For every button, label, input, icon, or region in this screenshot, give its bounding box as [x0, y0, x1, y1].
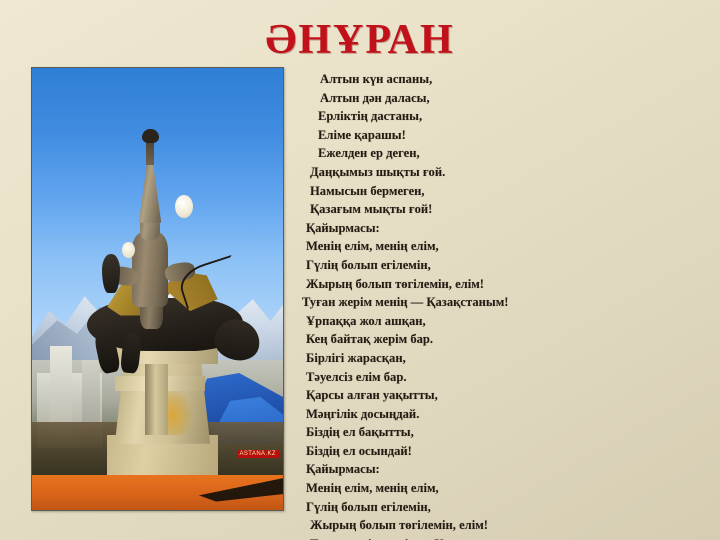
lyric-line: Туған жерім менің — Қазақстаным! — [296, 293, 702, 312]
lyric-line: Қайырмасы: — [296, 460, 702, 479]
lyric-line: Бірлігі жарасқан, — [296, 349, 702, 368]
lyric-line: Тәуелсіз елім бар. — [296, 368, 702, 387]
sun-glare-orb — [175, 195, 193, 218]
lyric-line: Қарсы алған уақытты, — [296, 386, 702, 405]
sun-glare-orb-small — [122, 242, 135, 258]
lyric-line: Кең байтақ жерім бар. — [296, 330, 702, 349]
lyric-line: Жырың болып төгілемін, елім! — [296, 275, 702, 294]
lyric-line: Туған жерім менің — Қазақстаным — [296, 535, 702, 540]
lyric-line: Алтын күн аспаны, — [296, 70, 702, 89]
falcon-on-hand — [102, 254, 120, 294]
lyric-line: Қазағым мықты ғой! — [296, 200, 702, 219]
lyric-line: Алтын дән даласы, — [296, 89, 702, 108]
lyric-line: Қайырмасы: — [296, 219, 702, 238]
pedestal-column — [145, 355, 168, 435]
lyric-line: Гүлің болып егілемін, — [296, 256, 702, 275]
lyric-line: Еліме қарашы! — [296, 126, 702, 145]
anthem-lyrics: Алтын күн аспаны,Алтын дән даласы,Ерлікт… — [296, 70, 702, 540]
monument-photo: ASTANA.KZ — [31, 67, 284, 511]
lyric-line: Гүлің болып егілемін, — [296, 498, 702, 517]
lyric-line: Намысын бермеген, — [296, 182, 702, 201]
lyric-line: Жырың болып төгілемін, елім! — [296, 516, 702, 535]
lyric-line: Біздің ел осындай! — [296, 442, 702, 461]
lyric-line: Ұрпаққа жол ашқан, — [296, 312, 702, 331]
lyric-line: Біздің ел бақытты, — [296, 423, 702, 442]
presentation-slide: ӘНҰРАН — [0, 0, 720, 540]
warrior-torso — [132, 232, 167, 307]
lyric-line: Даңқымыз шықты ғой. — [296, 163, 702, 182]
lyric-line: Менің елім, менің елім, — [296, 479, 702, 498]
helmet-bird-figure — [142, 129, 158, 143]
photo-watermark: ASTANA.KZ — [237, 450, 280, 458]
lyric-line: Ерліктің дастаны, — [296, 107, 702, 126]
lyric-line: Менің елім, менің елім, — [296, 237, 702, 256]
lyric-line: Ежелден ер деген, — [296, 144, 702, 163]
slide-title: ӘНҰРАН — [0, 18, 720, 62]
lyric-line: Мәңгілік досыңдай. — [296, 405, 702, 424]
